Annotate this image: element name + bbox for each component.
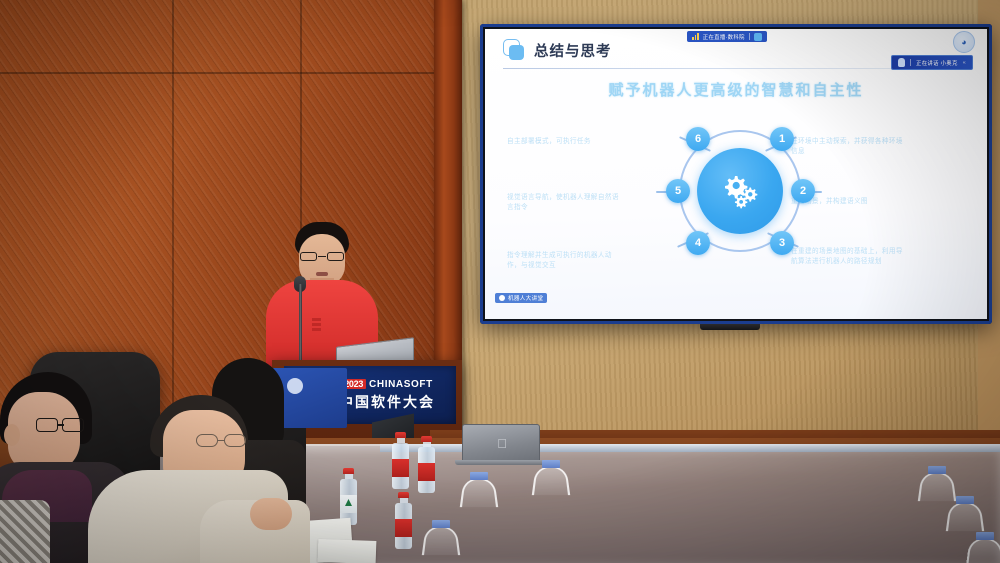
person-glasses-icon xyxy=(36,418,84,432)
person-hand xyxy=(250,498,292,530)
badge-divider xyxy=(749,33,750,40)
presentation-slide: 总结与思考 赋予机器人更高级的智慧和自主性 在环境中主动探索，并获得各种环境信息… xyxy=(485,29,987,319)
rounded-square-stack-icon xyxy=(503,39,525,61)
person-ear xyxy=(4,424,20,446)
active-speaker-label: 正在讲话 小奥克 xyxy=(916,59,958,67)
live-stream-label: 正在直播·数科院 xyxy=(703,33,745,41)
app-logo-icon xyxy=(754,33,762,41)
paper-document[interactable] xyxy=(318,539,377,563)
apple-logo-icon:  xyxy=(496,437,508,451)
watermark-label: 机器人大讲堂 xyxy=(508,294,543,302)
podium-brand-cn: 中国软件大会 xyxy=(339,392,435,412)
name-card-holder[interactable] xyxy=(948,500,982,530)
slide-main-title: 赋予机器人更高级的智慧和自主性 xyxy=(485,79,987,100)
folder-emblem-icon xyxy=(287,378,303,394)
name-card-holder[interactable] xyxy=(534,464,568,494)
presenter xyxy=(258,222,388,372)
diagram-label-6: 自主部署模式，可执行任务 xyxy=(507,137,619,147)
slide-header-title: 总结与思考 xyxy=(534,40,612,61)
diagram-node-6[interactable]: 6 xyxy=(686,127,710,151)
shirt-graphic xyxy=(312,318,321,332)
diagram-label-4: 指令理解并生成可执行的机器人动作，与视觉交互 xyxy=(507,251,619,271)
live-stream-badge[interactable]: 正在直播·数科院 xyxy=(687,31,767,42)
badge-divider xyxy=(910,59,911,66)
podium-brand-en: CHINASOFT xyxy=(369,379,433,390)
signal-bars-icon xyxy=(692,33,699,40)
name-card-holder[interactable] xyxy=(968,536,1000,563)
display-stand xyxy=(700,324,760,330)
circular-institute-logo: ◕ xyxy=(953,31,975,53)
presenter-mouth xyxy=(316,272,328,276)
presenter-glasses-icon xyxy=(299,252,345,261)
diagram-label-5: 视觉语言导航，使机器人理解自然语言指令 xyxy=(507,193,619,213)
slide-watermark: 机器人大讲堂 xyxy=(495,293,547,303)
slide-header: 总结与思考 xyxy=(503,39,612,61)
diagram-node-4[interactable]: 4 xyxy=(686,231,710,255)
conference-room-scene: 总结与思考 赋予机器人更高级的智慧和自主性 在环境中主动探索，并获得各种环境信息… xyxy=(0,0,1000,563)
water-bottle[interactable] xyxy=(392,432,409,489)
double-chevron-icon[interactable]: « xyxy=(963,60,966,66)
macbook-laptop[interactable]:  xyxy=(462,424,540,462)
microphone-icon xyxy=(898,58,905,67)
diagram-node-2[interactable]: 2 xyxy=(791,179,815,203)
diagram-node-3[interactable]: 3 xyxy=(770,231,794,255)
circle-dot-icon xyxy=(499,295,505,301)
presentation-display[interactable]: 总结与思考 赋予机器人更高级的智慧和自主性 在环境中主动探索，并获得各种环境信息… xyxy=(480,24,992,324)
person-scarf xyxy=(0,500,50,563)
diagram-node-5[interactable]: 5 xyxy=(666,179,690,203)
gears-icon xyxy=(697,148,783,234)
name-card-holder[interactable] xyxy=(920,470,954,500)
circular-process-diagram: 1 2 3 4 5 6 xyxy=(646,119,826,289)
name-card-holder[interactable] xyxy=(424,524,458,554)
water-bottle[interactable] xyxy=(395,492,412,549)
slide-header-divider xyxy=(503,68,958,69)
active-speaker-badge[interactable]: 正在讲话 小奥克 « xyxy=(891,55,973,70)
water-bottle[interactable] xyxy=(340,468,357,525)
microphone-stand xyxy=(299,284,302,372)
diagram-node-1[interactable]: 1 xyxy=(770,127,794,151)
water-bottle[interactable] xyxy=(418,436,435,493)
name-card-holder[interactable] xyxy=(462,476,496,506)
person-glasses-icon xyxy=(196,434,246,447)
wall-seam-horizontal xyxy=(0,72,434,74)
